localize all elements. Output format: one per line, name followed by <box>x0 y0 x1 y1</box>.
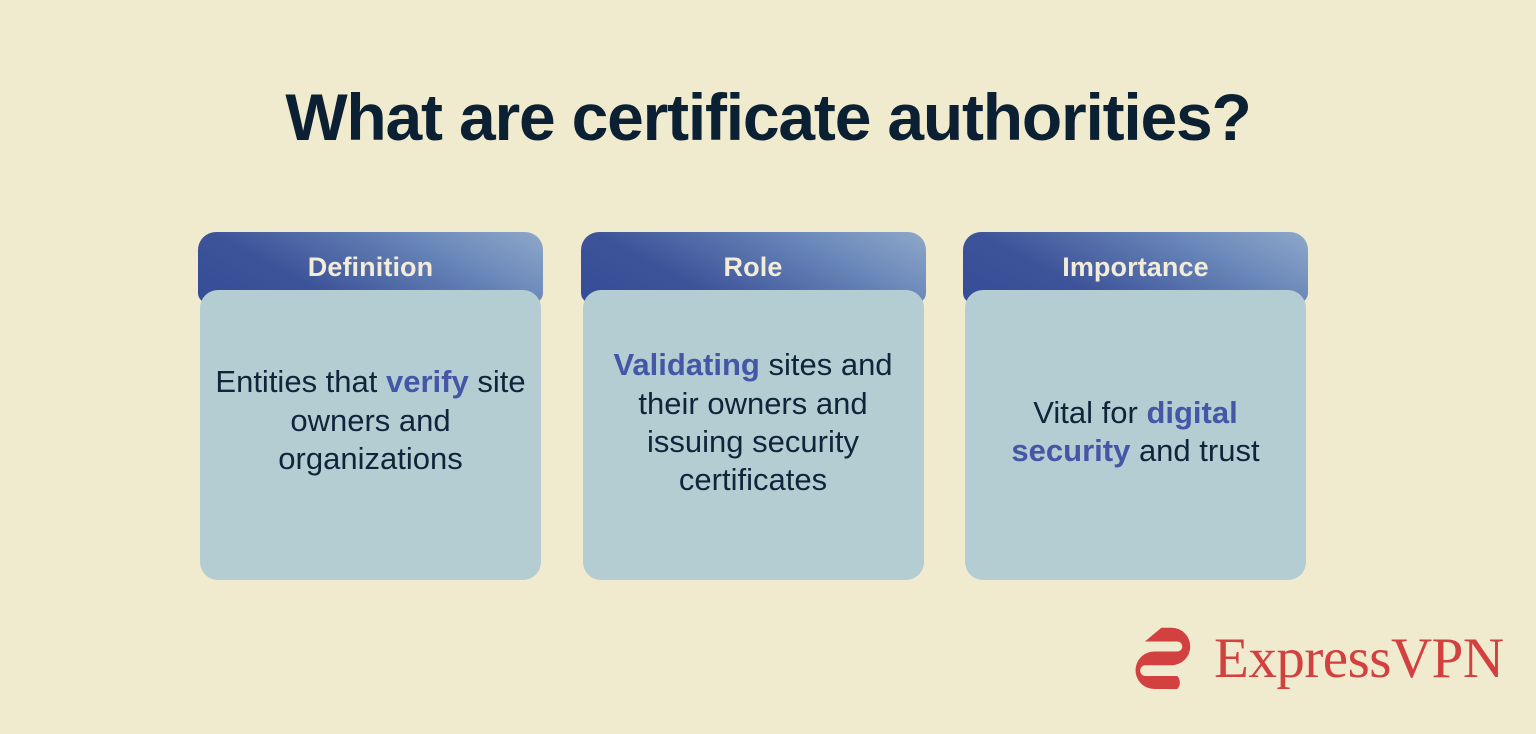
body-phrase: and trust <box>1130 433 1259 468</box>
card-body-role: Validating sites and their owners and is… <box>583 290 924 580</box>
card-definition: Definition Entities that verify site own… <box>198 232 543 582</box>
body-phrase: Entities that <box>215 364 386 399</box>
logo-wordmark: ExpressVPN <box>1214 630 1504 687</box>
highlighted-phrase: verify <box>386 364 469 399</box>
card-header-label: Role <box>724 254 783 281</box>
expressvpn-e-mark <box>1124 622 1196 694</box>
card-body-text: Validating sites and their owners and is… <box>597 346 910 500</box>
card-row: Definition Entities that verify site own… <box>198 232 1308 582</box>
highlighted-phrase: Validating <box>613 347 759 382</box>
card-header-label: Definition <box>308 254 433 281</box>
body-phrase: Vital for <box>1033 395 1146 430</box>
page-title: What are certificate authorities? <box>0 84 1536 150</box>
card-role: Role Validating sites and their owners a… <box>581 232 926 582</box>
card-body-text: Entities that verify site owners and org… <box>214 363 527 478</box>
card-body-text: Vital for digital security and trust <box>979 394 1292 471</box>
card-body-importance: Vital for digital security and trust <box>965 290 1306 580</box>
infographic-canvas: What are certificate authorities? Defini… <box>0 0 1536 734</box>
card-importance: Importance Vital for digital security an… <box>963 232 1308 582</box>
card-header-label: Importance <box>1062 254 1209 281</box>
card-body-definition: Entities that verify site owners and org… <box>200 290 541 580</box>
expressvpn-logo: ExpressVPN <box>1124 620 1504 696</box>
